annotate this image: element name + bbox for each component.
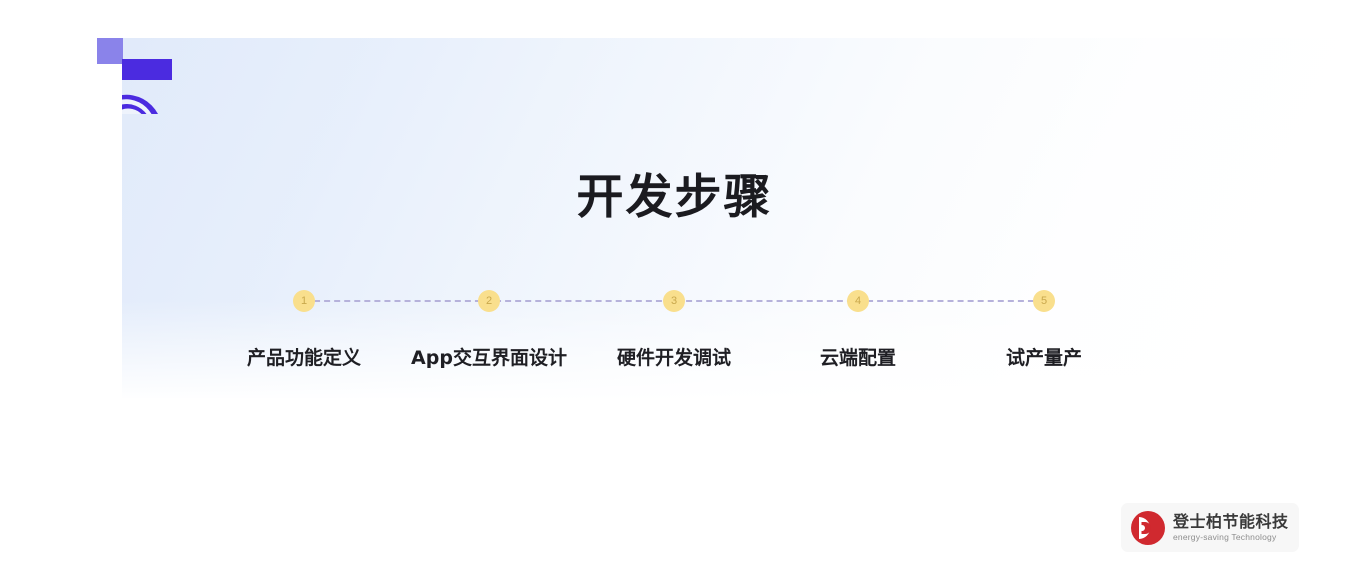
step-number-badge[interactable]: 2 (478, 290, 500, 312)
brand-mark (97, 38, 172, 114)
slide-canvas: 开发步骤 1产品功能定义2App交互界面设计3硬件开发调试4云端配置5试产量产 … (0, 0, 1349, 567)
step-number-badge[interactable]: 5 (1033, 290, 1055, 312)
step-number-badge[interactable]: 4 (847, 290, 869, 312)
company-d-logo-icon (1130, 510, 1166, 546)
step-number-badge[interactable]: 1 (293, 290, 315, 312)
wifi-arc-icon (122, 59, 172, 114)
watermark-company-en: energy-saving Technology (1173, 531, 1289, 543)
watermark-company-cn: 登士柏节能科技 (1173, 512, 1289, 531)
page-title: 开发步骤 (0, 168, 1349, 228)
step-number-badge[interactable]: 3 (663, 290, 685, 312)
square-accent-icon (97, 38, 123, 64)
watermark-text: 登士柏节能科技 energy-saving Technology (1173, 512, 1289, 543)
timeline-step[interactable]: 5试产量产 (934, 279, 1154, 371)
development-steps-timeline: 1产品功能定义2App交互界面设计3硬件开发调试4云端配置5试产量产 (0, 279, 1349, 389)
step-label: 试产量产 (934, 345, 1154, 371)
timeline-steps: 1产品功能定义2App交互界面设计3硬件开发调试4云端配置5试产量产 (0, 279, 1349, 389)
company-watermark: 登士柏节能科技 energy-saving Technology (1121, 503, 1299, 552)
